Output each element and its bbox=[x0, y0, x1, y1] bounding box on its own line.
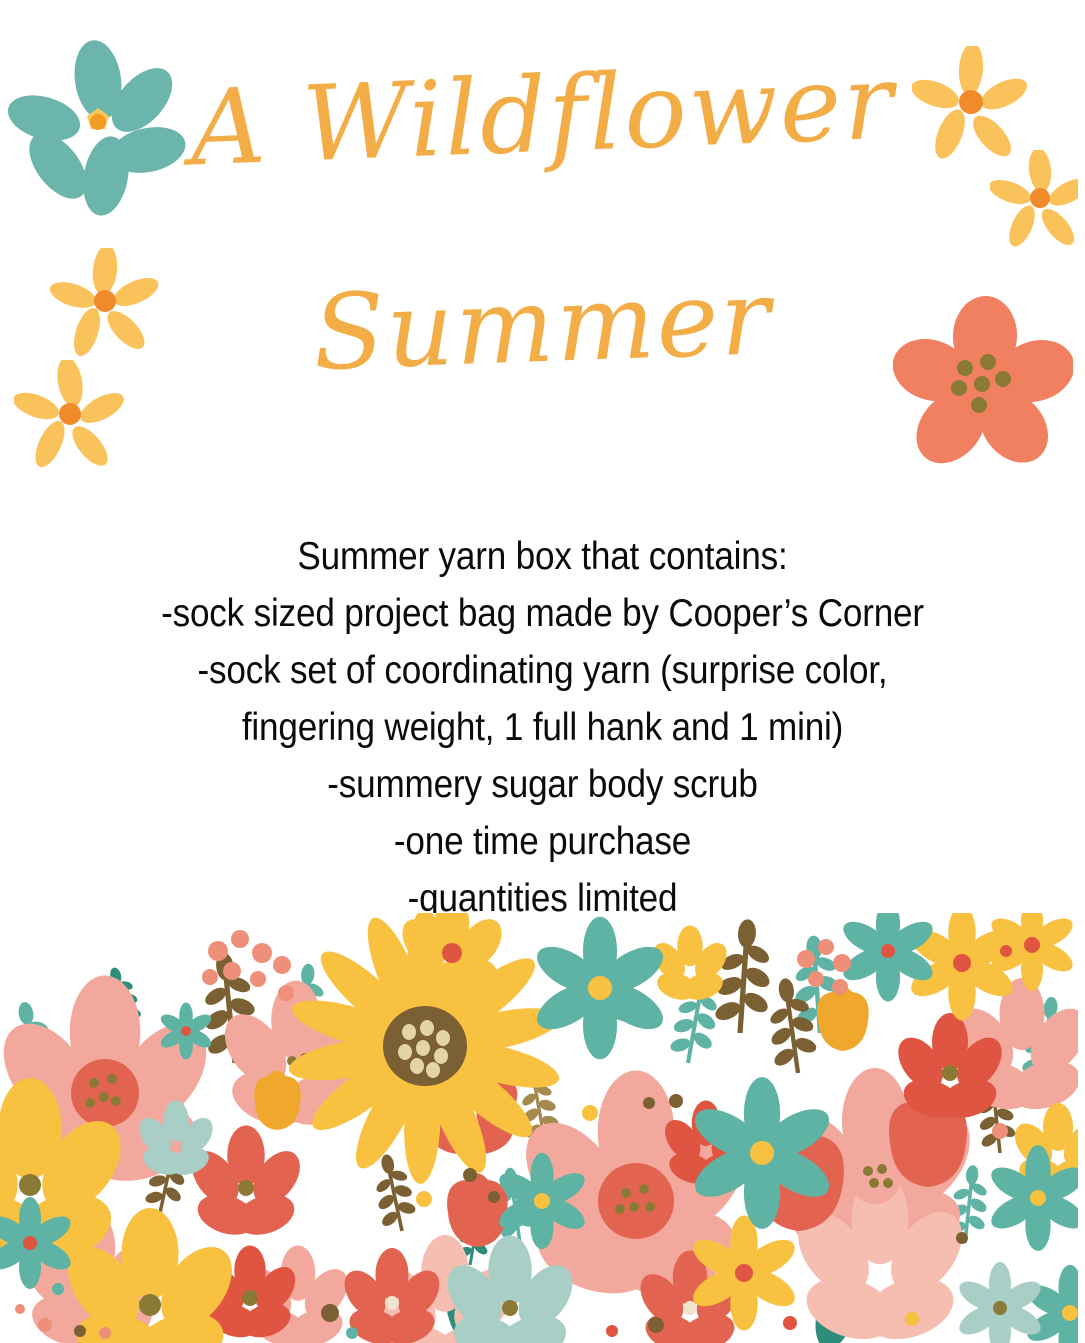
description-line: -sock sized project bag made by Cooper’s… bbox=[90, 585, 995, 642]
description-line: -summery sugar body scrub bbox=[90, 756, 995, 813]
description-line: Summer yarn box that contains: bbox=[90, 528, 995, 585]
description-line: -one time purchase bbox=[90, 813, 995, 870]
yellow-daisy-icon bbox=[50, 248, 160, 358]
description-line: -sock set of coordinating yarn (surprise… bbox=[90, 642, 995, 699]
poster-canvas: A Wildflower Summer Summer yarn box that… bbox=[0, 0, 1085, 1343]
right-edge-margin bbox=[1078, 0, 1085, 1343]
description-line: fingering weight, 1 full hank and 1 mini… bbox=[90, 699, 995, 756]
yellow-daisy-icon bbox=[912, 46, 1030, 164]
yellow-daisy-icon bbox=[14, 360, 126, 472]
teal-flower-icon bbox=[8, 38, 188, 218]
product-description: Summer yarn box that contains: -sock siz… bbox=[40, 528, 1045, 927]
bottom-floral-border bbox=[0, 913, 1085, 1343]
coral-flower-icon bbox=[893, 292, 1073, 468]
yellow-daisy-icon bbox=[990, 150, 1085, 250]
